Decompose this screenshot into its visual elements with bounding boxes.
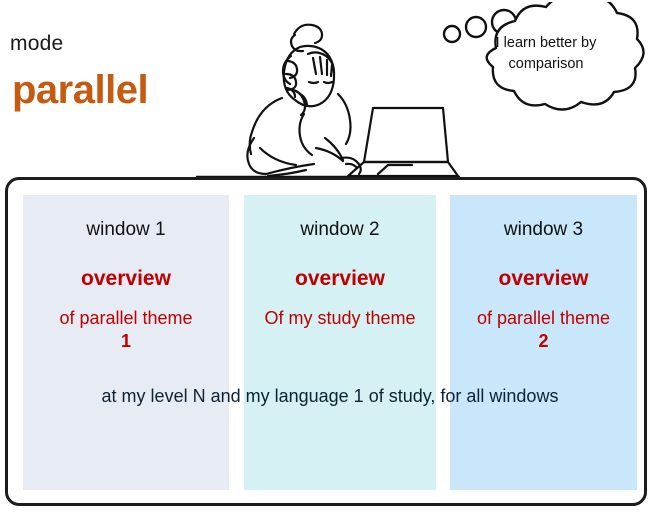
window-3-emphasis: 2 <box>450 330 637 353</box>
window-1-title: window 1 <box>23 220 229 239</box>
window-1-subtitle: of parallel theme 1 <box>23 307 229 352</box>
window-2-heading: overview <box>244 268 436 289</box>
window-2-subtitle-text: Of my study theme <box>264 308 415 328</box>
mode-value: parallel <box>12 70 148 110</box>
windows-frame: window 1 overview of parallel theme 1 wi… <box>5 177 647 506</box>
window-3-subtitle: of parallel theme 2 <box>450 307 637 352</box>
thought-bubble-text: I learn better by comparison <box>472 33 620 76</box>
window-3-subtitle-text: of parallel theme <box>477 308 610 328</box>
person-studying-at-laptop-illustration <box>196 0 460 178</box>
window-panel-2[interactable]: window 2 overview Of my study theme <box>244 195 436 490</box>
window-2-title: window 2 <box>244 220 436 239</box>
window-panel-1[interactable]: window 1 overview of parallel theme 1 <box>23 195 229 490</box>
header-area: mode parallel <box>0 0 656 177</box>
window-1-emphasis: 1 <box>23 330 229 353</box>
mode-label: mode <box>10 33 63 54</box>
window-1-subtitle-text: of parallel theme <box>59 308 192 328</box>
window-2-subtitle: Of my study theme <box>244 307 436 330</box>
window-3-heading: overview <box>450 268 637 289</box>
window-panel-3[interactable]: window 3 overview of parallel theme 2 <box>450 195 637 490</box>
window-1-heading: overview <box>23 268 229 289</box>
window-3-title: window 3 <box>450 220 637 239</box>
